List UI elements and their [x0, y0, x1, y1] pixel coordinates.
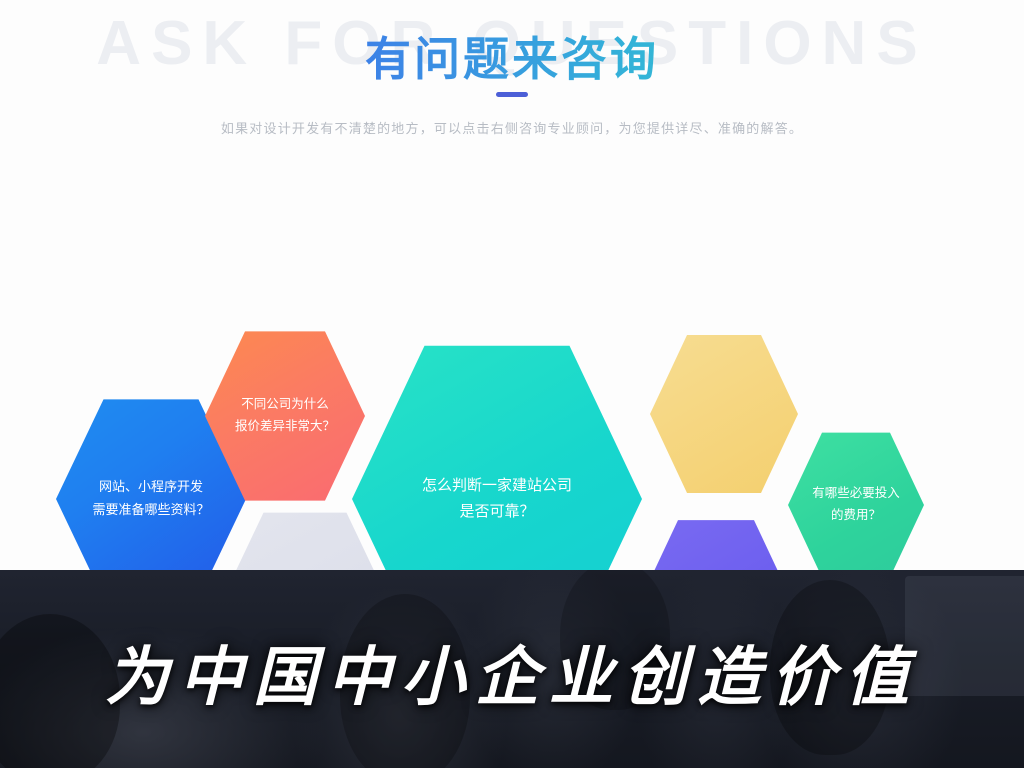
hexagon-card-green[interactable]: 有哪些必要投入 的费用？ [788, 428, 924, 582]
banner-slogan: 为中国中小企业创造价值 [0, 626, 1024, 718]
page-root: ASK FOR QUESTIONS 有问题来咨询 如果对设计开发有不清楚的地方，… [0, 0, 1024, 768]
hexagon-line-1: 网站、小程序开发 [99, 476, 203, 499]
hexagon-line-2: 是否可靠？ [459, 499, 534, 525]
hexagon-card-yellow[interactable] [650, 330, 798, 498]
hexagon-line-2: 需要准备哪些资料？ [92, 499, 209, 522]
hexagon-line-2: 的费用？ [831, 505, 881, 527]
title-divider [496, 92, 528, 97]
hexagon-line-2: 报价差异非常大？ [235, 416, 335, 438]
hexagon-line-1: 不同公司为什么 [241, 394, 329, 416]
hexagon-line-1: 怎么判断一家建站公司 [422, 473, 572, 499]
bottom-banner: 为中国中小企业创造价值 [0, 570, 1024, 768]
page-subtitle: 如果对设计开发有不清楚的地方，可以点击右侧咨询专业顾问，为您提供详尽、准确的解答… [0, 118, 1024, 137]
hexagon-grid: 网站、小程序开发 需要准备哪些资料？ 不同公司为什么 报价差异非常大？ 怎么判断… [0, 150, 1024, 570]
page-title: 有问题来咨询 [0, 23, 1024, 89]
section-header: ASK FOR QUESTIONS 有问题来咨询 如果对设计开发有不清楚的地方，… [0, 0, 1024, 150]
hexagon-line-1: 有哪些必要投入 [812, 483, 900, 505]
